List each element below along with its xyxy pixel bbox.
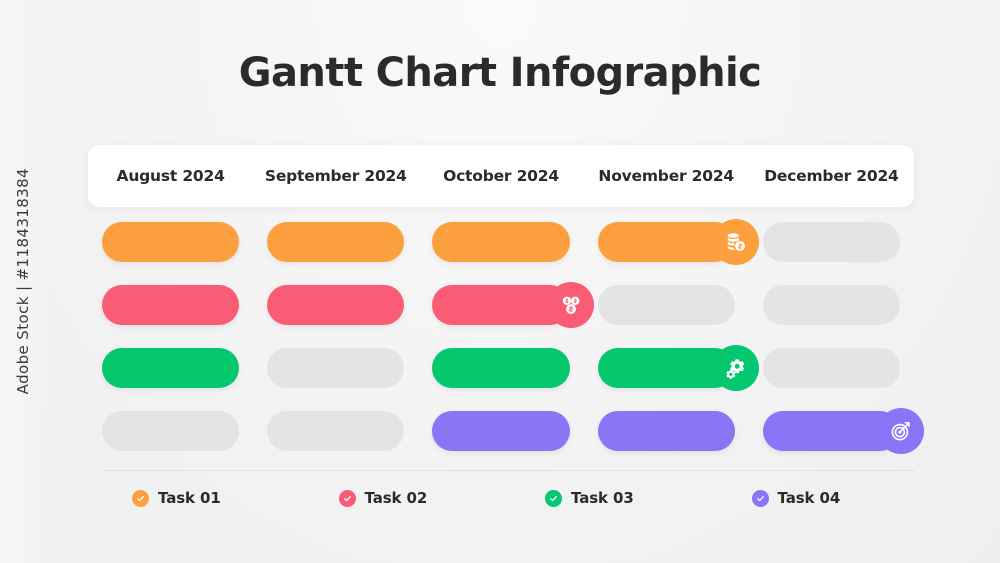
timeline-header: August 2024September 2024October 2024Nov… <box>88 145 914 207</box>
gantt-bar-filled[interactable] <box>598 411 735 451</box>
gantt-cell <box>749 348 914 388</box>
gantt-cell <box>584 222 749 262</box>
gantt-cell <box>88 411 253 451</box>
gantt-cell <box>253 285 418 325</box>
legend: Task 01Task 02Task 03Task 04 <box>88 483 914 513</box>
gantt-bar-empty[interactable] <box>763 222 900 262</box>
legend-item-1[interactable]: Task 01 <box>88 489 295 507</box>
gears-icon <box>713 345 759 391</box>
gantt-bar-empty[interactable] <box>102 411 239 451</box>
gantt-bar-filled[interactable] <box>432 348 569 388</box>
gantt-cell <box>88 222 253 262</box>
watermark-text: Adobe Stock | #1184318384 <box>14 168 32 394</box>
gantt-cell <box>253 348 418 388</box>
gantt-row <box>88 285 914 325</box>
legend-item-label: Task 02 <box>365 489 428 507</box>
check-circle-icon <box>752 490 769 507</box>
gantt-cell <box>418 285 583 325</box>
legend-item-label: Task 03 <box>571 489 634 507</box>
timeline-month-2: September 2024 <box>253 167 418 185</box>
gantt-chart <box>88 222 914 474</box>
legend-item-label: Task 04 <box>778 489 841 507</box>
gantt-cell <box>584 411 749 451</box>
gantt-cell <box>749 411 914 451</box>
gantt-cell <box>749 222 914 262</box>
gantt-cell <box>253 411 418 451</box>
gantt-cell <box>88 348 253 388</box>
gantt-bar-empty[interactable] <box>763 285 900 325</box>
timeline-month-3: October 2024 <box>418 167 583 185</box>
gantt-bar-empty[interactable] <box>267 411 404 451</box>
legend-item-label: Task 01 <box>158 489 221 507</box>
check-circle-icon <box>545 490 562 507</box>
gantt-bar-filled[interactable] <box>267 222 404 262</box>
gantt-cell <box>88 285 253 325</box>
infographic-canvas: Adobe Stock | #1184318384 Gantt Chart In… <box>0 0 1000 563</box>
gantt-cell <box>749 285 914 325</box>
coins-icon <box>548 282 594 328</box>
target-icon <box>878 408 924 454</box>
gantt-bar-empty[interactable] <box>598 285 735 325</box>
check-circle-icon <box>132 490 149 507</box>
gantt-bar-filled[interactable] <box>102 348 239 388</box>
gantt-row <box>88 411 914 451</box>
timeline-month-4: November 2024 <box>584 167 749 185</box>
timeline-month-1: August 2024 <box>88 167 253 185</box>
gantt-bar-filled[interactable] <box>432 411 569 451</box>
gantt-cell <box>253 222 418 262</box>
gantt-cell <box>418 411 583 451</box>
gantt-bar-filled[interactable] <box>102 222 239 262</box>
money-stack-icon <box>713 219 759 265</box>
legend-item-4[interactable]: Task 04 <box>708 489 915 507</box>
gantt-bar-empty[interactable] <box>267 348 404 388</box>
legend-item-3[interactable]: Task 03 <box>501 489 708 507</box>
gantt-row <box>88 222 914 262</box>
gantt-bar-filled[interactable] <box>102 285 239 325</box>
gantt-cell <box>418 348 583 388</box>
page-title: Gantt Chart Infographic <box>0 50 1000 96</box>
legend-item-2[interactable]: Task 02 <box>295 489 502 507</box>
gantt-row <box>88 348 914 388</box>
gantt-cell <box>584 348 749 388</box>
legend-divider <box>103 470 915 471</box>
gantt-bar-filled[interactable] <box>432 222 569 262</box>
check-circle-icon <box>339 490 356 507</box>
gantt-bar-empty[interactable] <box>763 348 900 388</box>
timeline-month-5: December 2024 <box>749 167 914 185</box>
gantt-cell <box>584 285 749 325</box>
gantt-cell <box>418 222 583 262</box>
gantt-bar-filled[interactable] <box>267 285 404 325</box>
